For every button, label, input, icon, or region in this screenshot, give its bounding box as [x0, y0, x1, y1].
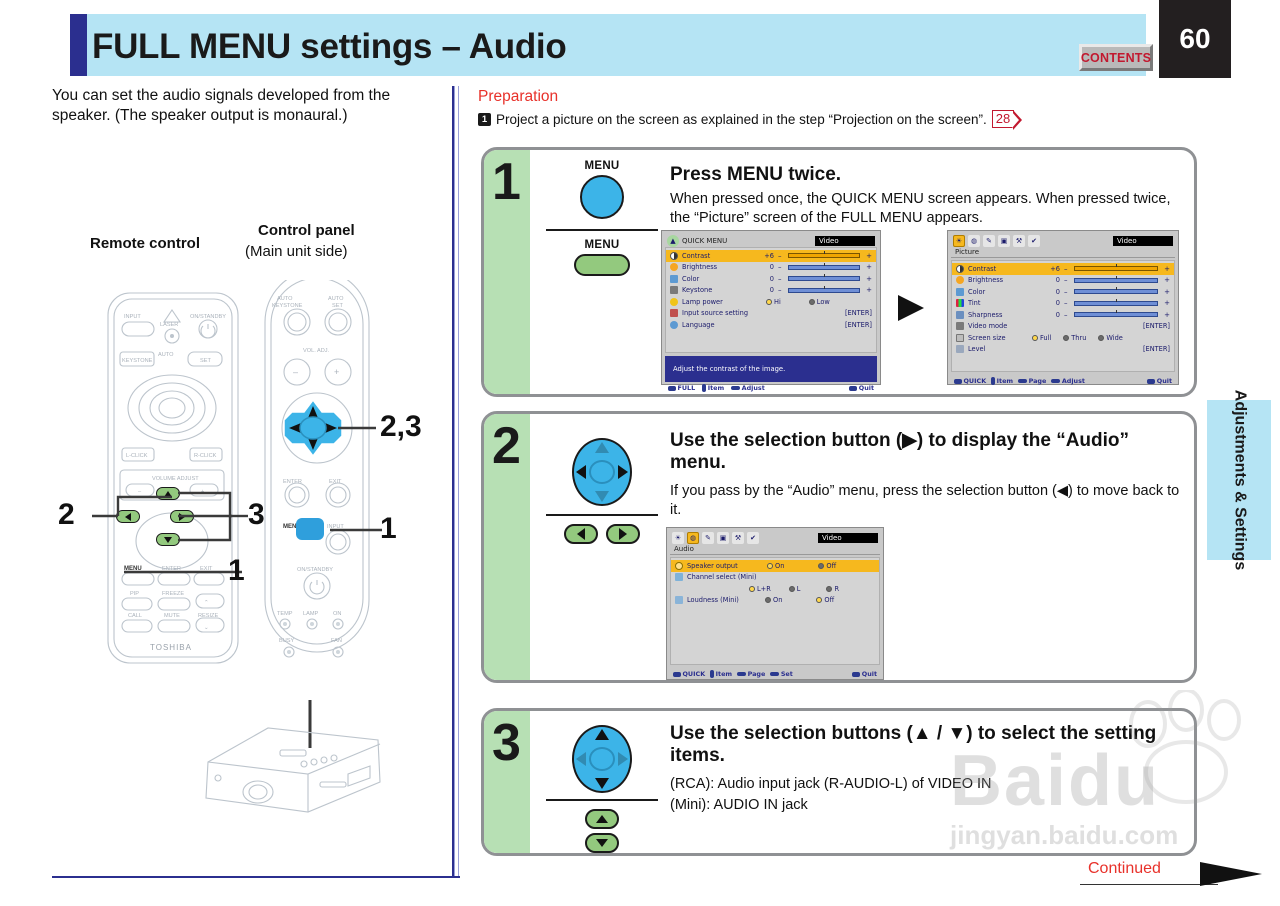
step-1-menu-label-bottom: MENU: [544, 239, 660, 251]
lamp-icon: [670, 298, 678, 306]
leftright-key-icon: [737, 672, 746, 676]
osd-row-screen-size[interactable]: Screen size Full Thru Wide: [952, 332, 1174, 344]
osd-row-label: Color: [968, 288, 1042, 296]
step-2-button-column: [544, 432, 660, 544]
updown-key-icon: [710, 670, 714, 678]
step-3-heading: Use the selection buttons (▲ / ▼) to sel…: [670, 723, 1182, 768]
step-3-body-line2: (Mini): AUDIO IN jack: [670, 796, 1182, 815]
osd-row-language[interactable]: Language [ENTER]: [666, 319, 876, 331]
selection-pad-lr-icon[interactable]: [572, 438, 632, 506]
footer-label: Adjust: [1062, 377, 1085, 385]
osd-row-label: Contrast: [968, 265, 1042, 273]
step-3-box: 3 Use the selection buttons (▲ / ▼) to s…: [481, 708, 1197, 856]
step-3-body-line1: (RCA): Audio input jack (R-AUDIO-L) of V…: [670, 775, 1182, 794]
footer-item: Item: [702, 384, 724, 392]
color-slider[interactable]: [1074, 289, 1159, 294]
display-tab-icon[interactable]: ▣: [717, 532, 729, 544]
osd-quick-menu-title: QUICK MENU: [682, 237, 727, 245]
intro-paragraph: You can set the audio signals developed …: [52, 86, 422, 127]
osd-row-video-mode[interactable]: Video mode [ENTER]: [952, 321, 1174, 333]
osd-option-label: On: [775, 562, 784, 570]
footer-label: Page: [1029, 377, 1047, 385]
leftright-key-icon: [1051, 379, 1060, 383]
radio-unselected-icon: [765, 597, 771, 603]
osd-row-brightness[interactable]: Brightness 0 –+: [952, 275, 1174, 287]
osd-row-contrast[interactable]: Contrast +6 –+: [666, 250, 876, 262]
osd-option-label: L: [797, 585, 801, 593]
osd-full-audio-footer: QUICK Item Page Set Quit: [670, 668, 880, 680]
page-number-box: 60: [1159, 0, 1231, 78]
speaker-output-icon: [675, 562, 683, 570]
footer-label: Quit: [859, 384, 874, 392]
osd-option-label: Thru: [1071, 334, 1086, 342]
level-icon: [956, 345, 964, 353]
osd-row-label: Tint: [968, 299, 1042, 307]
osd-row-lamp-power[interactable]: Lamp power Hi Low: [666, 296, 876, 308]
menu-key-icon: [673, 672, 681, 677]
osd-row-label: Level: [968, 345, 1088, 353]
osd-row-input-source[interactable]: Input source setting [ENTER]: [666, 308, 876, 320]
osd-row-label: Sharpness: [968, 311, 1042, 319]
svg-text:AUTO: AUTO: [158, 352, 174, 358]
header-accent-bar: [70, 14, 87, 76]
section-side-tab: Adjustments & Settings: [1207, 400, 1271, 560]
step-2-body: If you pass by the “Audio” menu, press t…: [670, 482, 1182, 520]
step-3-number: 3: [492, 717, 521, 769]
osd-row-label: Keystone: [682, 286, 756, 294]
osd-full-audio-tabname: Audio: [670, 544, 880, 555]
brightness-icon: [670, 263, 678, 271]
keystone-icon: [670, 286, 678, 294]
page-reference-number: 28: [996, 111, 1010, 127]
exit-key-icon: [849, 386, 857, 391]
svg-text:+: +: [334, 367, 339, 377]
svg-text:–: –: [293, 367, 298, 377]
osd-row-value: [ENTER]: [845, 321, 872, 329]
osd-row-label: Video mode: [968, 322, 1088, 330]
footer-label: Page: [748, 670, 766, 678]
contrast-icon: [956, 265, 964, 273]
exit-key-icon: [1147, 379, 1155, 384]
osd-row-label: Contrast: [682, 252, 756, 260]
remote-left-button-icon[interactable]: [564, 524, 598, 544]
footer-page: Page: [1018, 377, 1046, 385]
callout-panel-1: 1: [380, 512, 397, 546]
step-1-heading: Press MENU twice.: [670, 164, 1182, 186]
svg-text:TOSHIBA: TOSHIBA: [150, 643, 192, 652]
step-2-number: 2: [492, 420, 521, 472]
footer-label: QUICK: [964, 377, 987, 385]
step-3-button-column: [544, 719, 660, 853]
osd-row-value: [ENTER]: [1143, 322, 1170, 330]
loudness-icon: [675, 596, 683, 604]
osd-full-picture-tabbar: ☀ ◍ ✎ ▣ ⚒ ✔ Video: [951, 234, 1175, 247]
svg-text:KEYSTONE: KEYSTONE: [272, 303, 303, 309]
audio-tab-icon[interactable]: ◍: [968, 235, 980, 247]
osd-full-audio-panel: Speaker output On Off Channel select (Mi…: [670, 557, 880, 665]
osd-row-color[interactable]: Color 0 –+: [666, 273, 876, 285]
osd-row-label: Language: [682, 321, 802, 329]
channel-select-icon: [675, 573, 683, 581]
svg-text:ON/STANDBY: ON/STANDBY: [297, 567, 333, 573]
radio-selected-icon: [766, 299, 772, 305]
remote-menu-button-icon[interactable]: [574, 254, 630, 276]
brightness-slider[interactable]: [1074, 278, 1159, 283]
footer-quit: Quit: [1147, 377, 1172, 385]
footer-quit: Quit: [849, 384, 874, 392]
radio-unselected-icon: [826, 586, 832, 592]
remote-down-button-icon[interactable]: [585, 833, 619, 853]
contrast-slider[interactable]: [1074, 266, 1159, 271]
osd-option-label: R: [834, 585, 839, 593]
updown-key-icon: [991, 377, 995, 385]
menu-key-icon: [954, 379, 962, 384]
projector-illustration: [180, 700, 410, 830]
svg-text:MUTE: MUTE: [164, 613, 180, 619]
step-1-number: 1: [492, 156, 521, 208]
osd-full-audio: ☀ ◍ ✎ ▣ ⚒ ✔ Video Audio Speaker output O…: [666, 527, 884, 680]
osd-option-label: Off: [826, 562, 836, 570]
svg-text:SET: SET: [332, 303, 343, 309]
footer-label: FULL: [678, 384, 696, 392]
osd-row-tint[interactable]: Tint 0 –+: [952, 298, 1174, 310]
osd-row-label: Brightness: [682, 263, 756, 271]
osd-row-contrast[interactable]: Contrast +6 –+: [952, 263, 1174, 275]
leftright-key-icon: [731, 386, 740, 390]
default-setting-tab-icon[interactable]: ⚒: [1013, 235, 1025, 247]
svg-text:VOL. ADJ.: VOL. ADJ.: [303, 348, 330, 354]
continued-arrow-icon: [1200, 862, 1262, 886]
osd-option-label: On: [773, 596, 782, 604]
preparation-item-number: 1: [478, 113, 491, 126]
footer-label: Item: [708, 384, 724, 392]
svg-text:R-CLICK: R-CLICK: [194, 453, 217, 459]
svg-text:SET: SET: [200, 358, 211, 364]
svg-text:ON: ON: [333, 611, 341, 617]
osd-row-value: 0: [760, 286, 774, 294]
svg-text:FAN: FAN: [331, 638, 342, 644]
step-1-body: When pressed once, the QUICK MENU screen…: [670, 190, 1182, 228]
osd-full-picture-tabname: Picture: [951, 247, 1175, 258]
osd-row-label: Color: [682, 275, 756, 283]
osd-row-channel-select[interactable]: Channel select (Mini): [671, 572, 879, 584]
brightness-slider[interactable]: [788, 265, 861, 270]
osd-quick-menu-titlebar: ▲ QUICK MENU Video: [665, 234, 877, 247]
keystone-tab-icon[interactable]: ✎: [983, 235, 995, 247]
footer-adjust: Adjust: [731, 384, 765, 392]
svg-text:LASER: LASER: [160, 322, 178, 328]
osd-row-label: Channel select (Mini): [687, 573, 817, 581]
svg-text:⌄: ⌄: [204, 625, 209, 631]
osd-row-value: 0: [760, 263, 774, 271]
continued-rule: [1080, 884, 1218, 885]
page-reference-link[interactable]: 28: [992, 110, 1014, 128]
step-2-heading: Use the selection button (▶) to display …: [670, 430, 1182, 475]
osd-row-value: 0: [1046, 311, 1060, 319]
footer-label: Item: [716, 670, 732, 678]
color-icon: [670, 275, 678, 283]
osd-quick-menu: ▲ QUICK MENU Video Contrast +6 –+ Bright…: [661, 230, 881, 385]
exit-key-icon: [852, 672, 860, 677]
factory-default-tab-icon[interactable]: ✔: [1028, 235, 1040, 247]
transition-arrow-icon: [898, 295, 924, 321]
footer-quick: QUICK: [673, 670, 705, 678]
osd-full-audio-source: Video: [818, 533, 878, 543]
continued-label: Continued: [1088, 860, 1161, 878]
quick-menu-icon: ▲: [667, 235, 679, 247]
tint-icon: [956, 299, 964, 307]
osd-quick-menu-panel: Contrast +6 –+ Brightness 0 –+ Color 0 –…: [665, 247, 877, 353]
footer-label: Set: [781, 670, 793, 678]
picture-tab-icon[interactable]: ☀: [953, 235, 965, 247]
step-2-arrow-buttons: [544, 524, 660, 544]
osd-quick-menu-help: Adjust the contrast of the image.: [665, 356, 877, 382]
sharpness-slider[interactable]: [1074, 312, 1159, 317]
language-icon: [670, 321, 678, 329]
preparation-item-text: Project a picture on the screen as expla…: [496, 112, 987, 127]
svg-text:ON/STANDBY: ON/STANDBY: [190, 314, 226, 320]
radio-unselected-icon: [789, 586, 795, 592]
osd-row-label: Input source setting: [682, 309, 802, 317]
osd-row-value: 0: [760, 275, 774, 283]
panel-menu-button-icon[interactable]: [580, 175, 624, 219]
osd-row-label: Screen size: [968, 334, 1028, 342]
page-number: 60: [1179, 23, 1210, 55]
radio-selected-icon: [816, 597, 822, 603]
step-1-button-column: MENU MENU: [544, 160, 660, 276]
osd-row-label: Speaker output: [687, 562, 761, 570]
step-2-divider: [546, 514, 658, 516]
osd-full-picture-source: Video: [1113, 236, 1173, 246]
svg-text:TEMP: TEMP: [277, 611, 293, 617]
color-icon: [956, 288, 964, 296]
footer-item: Item: [991, 377, 1013, 385]
footer-page: Page: [737, 670, 765, 678]
osd-row-value: [ENTER]: [845, 309, 872, 317]
callout-remote-2: 2: [58, 498, 75, 532]
radio-selected-icon: [749, 586, 755, 592]
preparation-title: Preparation: [478, 88, 558, 106]
menu-key-icon: [668, 386, 676, 391]
osd-row-brightness[interactable]: Brightness 0 –+: [666, 262, 876, 274]
footer-label: QUICK: [683, 670, 706, 678]
remote-control-label: Remote control: [90, 235, 200, 252]
factory-default-tab-icon[interactable]: ✔: [747, 532, 759, 544]
sharpness-icon: [956, 311, 964, 319]
osd-option-label: Hi: [774, 298, 781, 306]
default-setting-tab-icon[interactable]: ⚒: [732, 532, 744, 544]
preparation-item: 1 Project a picture on the screen as exp…: [478, 110, 1178, 128]
color-slider[interactable]: [788, 276, 861, 281]
osd-option-label: L+R: [757, 585, 771, 593]
footer-quick: QUICK: [954, 377, 986, 385]
osd-row-channel-options[interactable]: L+R L R: [671, 583, 879, 595]
step-1-divider: [546, 229, 658, 231]
step-1-menu-label-top: MENU: [544, 160, 660, 172]
input-source-icon: [670, 309, 678, 317]
svg-text:KEYSTONE: KEYSTONE: [122, 358, 153, 364]
video-mode-icon: [956, 322, 964, 330]
keystone-tab-icon[interactable]: ✎: [702, 532, 714, 544]
tint-slider[interactable]: [1074, 301, 1159, 306]
leftright-key-icon: [770, 672, 779, 676]
osd-row-color[interactable]: Color 0 –+: [952, 286, 1174, 298]
osd-row-value: 0: [1046, 299, 1060, 307]
control-panel-sublabel: (Main unit side): [245, 243, 348, 260]
osd-quick-menu-source: Video: [815, 236, 875, 246]
footer-label: Item: [997, 377, 1013, 385]
osd-option-label: Wide: [1106, 334, 1122, 342]
display-tab-icon[interactable]: ▣: [998, 235, 1010, 247]
bottom-rule: [52, 876, 460, 878]
osd-row-level[interactable]: Level [ENTER]: [952, 344, 1174, 356]
contents-button-label: CONTENTS: [1081, 51, 1151, 65]
keystone-slider[interactable]: [788, 288, 861, 293]
radio-unselected-icon: [1098, 335, 1104, 341]
radio-unselected-icon: [818, 563, 824, 569]
footer-set: Set: [770, 670, 793, 678]
svg-text:L-CLICK: L-CLICK: [126, 453, 148, 459]
osd-row-value: 0: [1046, 276, 1060, 284]
svg-text:LAMP: LAMP: [303, 611, 319, 617]
updown-key-icon: [702, 384, 706, 392]
control-panel-label: Control panel: [258, 222, 355, 239]
osd-full-picture: ☀ ◍ ✎ ▣ ⚒ ✔ Video Picture Contrast +6 –+…: [947, 230, 1179, 385]
radio-selected-icon: [1032, 335, 1038, 341]
osd-row-sharpness[interactable]: Sharpness 0 –+: [952, 309, 1174, 321]
osd-row-loudness[interactable]: Loudness (Mini) On Off: [671, 595, 879, 607]
osd-full-picture-footer: QUICK Item Page Adjust Quit: [951, 375, 1175, 387]
osd-row-value: 0: [1046, 288, 1060, 296]
osd-option-label: Full: [1040, 334, 1051, 342]
footer-adjust: Adjust: [1051, 377, 1085, 385]
radio-unselected-icon: [809, 299, 815, 305]
contrast-slider[interactable]: [788, 253, 861, 258]
osd-option-label: Low: [817, 298, 830, 306]
svg-text:INPUT: INPUT: [124, 314, 141, 320]
osd-row-label: Brightness: [968, 276, 1042, 284]
svg-text:AUTO: AUTO: [328, 296, 344, 302]
radio-selected-icon: [767, 563, 773, 569]
selection-pad-ud-icon[interactable]: [572, 725, 632, 793]
footer-item: Item: [710, 670, 732, 678]
remote-up-button-icon[interactable]: [585, 809, 619, 829]
osd-row-value: +6: [760, 252, 774, 260]
osd-row-label: Lamp power: [682, 298, 756, 306]
osd-row-label: Loudness (Mini): [687, 596, 759, 604]
page-title: FULL MENU settings – Audio: [92, 27, 566, 67]
step-3-divider: [546, 799, 658, 801]
footer-label: Quit: [1157, 377, 1172, 385]
svg-text:CALL: CALL: [128, 613, 142, 619]
footer-label: Adjust: [742, 384, 765, 392]
contrast-icon: [670, 252, 678, 260]
osd-full-audio-tabbar: ☀ ◍ ✎ ▣ ⚒ ✔ Video: [670, 531, 880, 544]
callout-remote-1: 1: [228, 554, 245, 588]
leftright-key-icon: [1018, 379, 1027, 383]
brightness-icon: [956, 276, 964, 284]
screen-size-icon: [956, 334, 964, 342]
svg-text:BUSY: BUSY: [279, 638, 295, 644]
osd-option-label: Off: [824, 596, 834, 604]
footer-full: FULL: [668, 384, 695, 392]
picture-tab-icon[interactable]: ☀: [672, 532, 684, 544]
audio-tab-icon[interactable]: ◍: [687, 532, 699, 544]
osd-row-speaker-output[interactable]: Speaker output On Off: [671, 560, 879, 572]
section-side-tab-label: Adjustments & Settings: [1231, 390, 1248, 570]
remote-right-button-icon[interactable]: [606, 524, 640, 544]
step-3-arrow-buttons: [544, 809, 660, 853]
control-panel-menu-button[interactable]: [296, 518, 324, 540]
osd-row-value: +6: [1046, 265, 1060, 273]
osd-row-value: [ENTER]: [1143, 345, 1170, 353]
footer-label: Quit: [862, 670, 877, 678]
radio-unselected-icon: [1063, 335, 1069, 341]
contents-button[interactable]: CONTENTS: [1079, 44, 1153, 71]
osd-full-picture-panel: Contrast +6 –+ Brightness 0 –+ Color 0 –…: [951, 260, 1175, 372]
osd-row-keystone[interactable]: Keystone 0 –+: [666, 285, 876, 297]
callout-panel-23: 2,3: [380, 410, 422, 444]
osd-quick-menu-footer: FULL Item Adjust Quit: [665, 382, 877, 394]
footer-quit: Quit: [852, 670, 877, 678]
svg-text:AUTO: AUTO: [277, 296, 293, 302]
